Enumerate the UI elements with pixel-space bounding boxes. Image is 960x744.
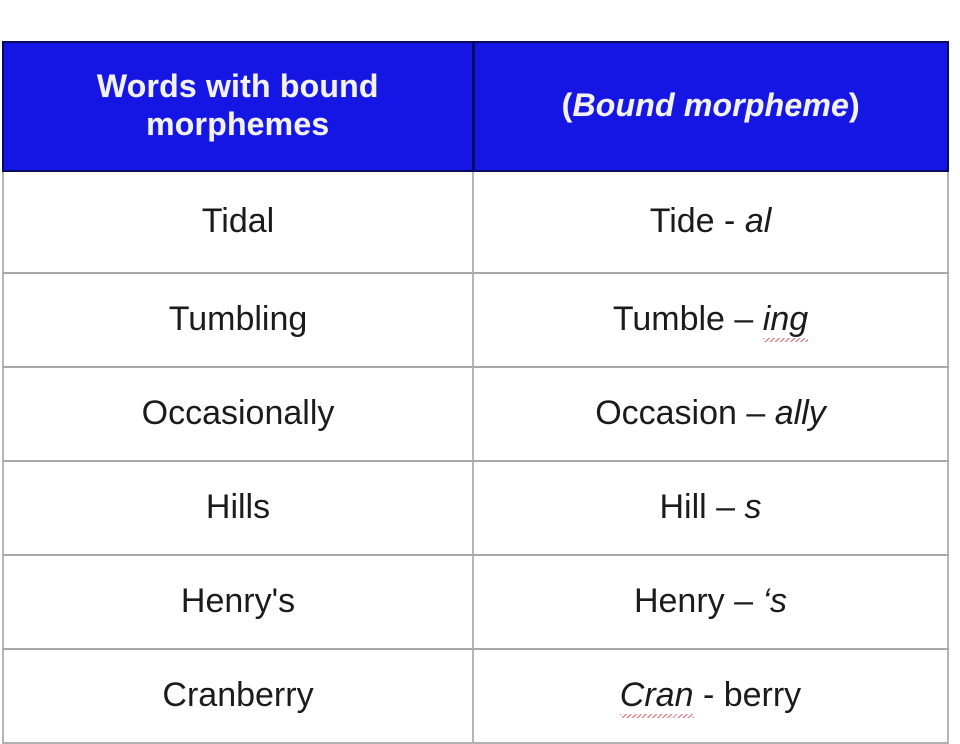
morpheme-separator: – [737, 394, 775, 432]
morpheme-breakdown-text: Cran - berry [620, 677, 801, 714]
cell-morpheme-breakdown: Hill – s [473, 461, 948, 555]
table-header: Words with bound morphemes (Bound morphe… [3, 42, 948, 171]
cell-word: Hills [3, 461, 473, 555]
morpheme-breakdown-text: Tide - al [650, 203, 772, 240]
word-text: Cranberry [162, 677, 313, 714]
cell-word: Cranberry [3, 649, 473, 743]
morpheme-breakdown-text: Hill – s [659, 489, 761, 526]
word-text: Tumbling [169, 301, 308, 338]
cell-morpheme-breakdown: Tide - al [473, 171, 948, 273]
table-row: Henry'sHenry – ‘s [3, 555, 948, 649]
table-body: TidalTide - alTumblingTumble – ingOccasi… [3, 171, 948, 743]
table-row: TidalTide - al [3, 171, 948, 273]
morpheme-base: Hill [659, 488, 706, 526]
morpheme-trailing: - berry [694, 676, 802, 714]
morpheme-base: Henry [634, 582, 725, 620]
column-header-bound-morpheme: (Bound morpheme) [473, 42, 948, 171]
morpheme-breakdown-text: Henry – ‘s [634, 583, 787, 620]
morpheme-base: Cran [620, 677, 694, 714]
header-bound-morpheme-label: Bound morpheme [572, 87, 849, 123]
morpheme-breakdown-text: Occasion – ally [595, 395, 826, 432]
word-text: Occasionally [142, 395, 335, 432]
cell-morpheme-breakdown: Cran - berry [473, 649, 948, 743]
table-row: OccasionallyOccasion – ally [3, 367, 948, 461]
cell-word: Henry's [3, 555, 473, 649]
table-row: HillsHill – s [3, 461, 948, 555]
table-row: CranberryCran - berry [3, 649, 948, 743]
morpheme-separator: - [715, 202, 745, 240]
morpheme-affix: ally [775, 394, 826, 432]
column-header-words-with-bound-morphemes: Words with bound morphemes [3, 42, 473, 171]
morpheme-breakdown-text: Tumble – ing [613, 301, 808, 338]
morpheme-separator: – [707, 488, 745, 526]
cell-morpheme-breakdown: Henry – ‘s [473, 555, 948, 649]
header-open-paren: ( [562, 87, 573, 123]
table-header-row: Words with bound morphemes (Bound morphe… [3, 42, 948, 171]
morpheme-affix: ing [763, 301, 808, 338]
morpheme-separator: – [725, 582, 763, 620]
cell-morpheme-breakdown: Occasion – ally [473, 367, 948, 461]
cell-morpheme-breakdown: Tumble – ing [473, 273, 948, 367]
header-close-paren: ) [849, 87, 860, 123]
morpheme-affix: ‘s [762, 582, 787, 620]
word-text: Hills [206, 489, 270, 526]
morpheme-affix: s [745, 488, 762, 526]
morpheme-base: Tumble [613, 300, 725, 338]
word-text: Henry's [181, 583, 295, 620]
slide-canvas: Words with bound morphemes (Bound morphe… [0, 0, 960, 720]
morpheme-base: Tide [650, 202, 715, 240]
cell-word: Tidal [3, 171, 473, 273]
bound-morphemes-table: Words with bound morphemes (Bound morphe… [2, 41, 949, 744]
cell-word: Occasionally [3, 367, 473, 461]
morpheme-separator: – [725, 300, 763, 338]
table-row: TumblingTumble – ing [3, 273, 948, 367]
cell-word: Tumbling [3, 273, 473, 367]
word-text: Tidal [202, 203, 274, 240]
morpheme-base: Occasion [595, 394, 737, 432]
morpheme-affix: al [745, 202, 771, 240]
